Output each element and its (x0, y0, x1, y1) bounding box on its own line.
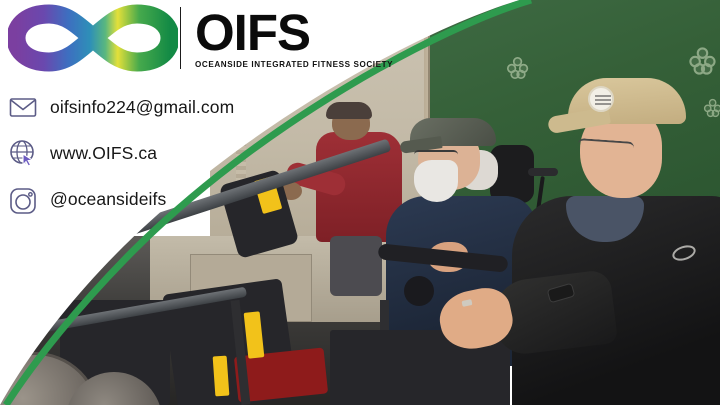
brand-wordmark: OIFS OCEANSIDE INTEGRATED FITNESS SOCIET… (195, 7, 393, 69)
infinity-rainbow-icon (8, 4, 178, 72)
brand-header: OIFS OCEANSIDE INTEGRATED FITNESS SOCIET… (8, 4, 393, 72)
contact-row-email[interactable]: oifsinfo224@gmail.com (8, 84, 234, 130)
email-value: oifsinfo224@gmail.com (50, 97, 234, 118)
globe-cursor-icon (8, 138, 38, 168)
contact-list: oifsinfo224@gmail.com www.OIFS.ca @ocean… (8, 84, 234, 222)
website-value: www.OIFS.ca (50, 143, 157, 164)
poster-canvas: WELCOME (0, 0, 720, 405)
instagram-value: @oceansideifs (50, 189, 166, 210)
brand-tagline: OCEANSIDE INTEGRATED FITNESS SOCIETY (195, 60, 393, 69)
contact-row-website[interactable]: www.OIFS.ca (8, 130, 234, 176)
brand-name: OIFS (195, 7, 393, 59)
instagram-icon (8, 184, 38, 214)
contact-row-instagram[interactable]: @oceansideifs (8, 176, 234, 222)
email-icon (8, 92, 38, 122)
brand-divider (180, 7, 181, 69)
